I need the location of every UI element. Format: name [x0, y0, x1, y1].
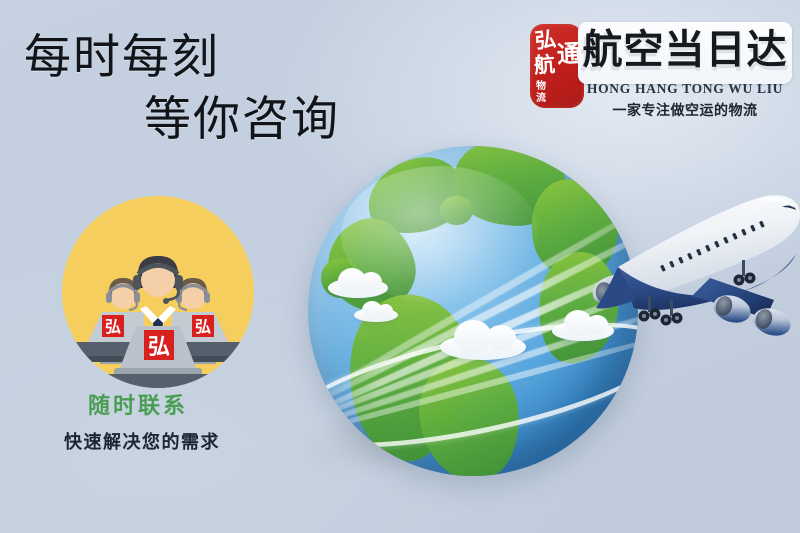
brand-pinyin: HONG HANG TONG WU LIU [578, 81, 792, 97]
globe-landmass [440, 196, 473, 226]
svg-text:弘: 弘 [195, 318, 211, 336]
brand-tagline: 一家专注做空运的物流 [578, 100, 792, 120]
caption-primary: 随时联系 [88, 388, 188, 420]
brand-seal-stamp: 弘 航 通 物流 [530, 24, 584, 108]
seal-char-hang: 航 [533, 54, 555, 76]
svg-text:弘: 弘 [148, 334, 170, 359]
support-agents-graphic: 弘 弘 [62, 196, 254, 388]
cloud-icon [328, 278, 388, 298]
airplane-illustration [560, 150, 800, 365]
cloud-icon [354, 308, 398, 322]
caption-secondary: 快速解决您的需求 [64, 428, 220, 454]
brand-name: 航空当日达 [578, 20, 792, 80]
headline-line-2: 等你咨询 [24, 88, 444, 150]
seal-char-hong: 弘 [534, 29, 557, 52]
support-desk-front [98, 374, 218, 388]
seal-subtext-wuliu: 物流 [536, 81, 554, 104]
headline-block: 每时每刻 等你咨询 [24, 26, 444, 150]
svg-text:弘: 弘 [105, 318, 121, 336]
airplane-icon [560, 150, 800, 365]
headline-line-1: 每时每刻 [24, 26, 444, 88]
cloud-icon [440, 334, 526, 360]
brand-logo-lockup[interactable]: 弘 航 通 物流 航空当日达 航空当日达 HONG HANG TONG WU L… [522, 18, 794, 118]
promotional-poster: 每时每刻 等你咨询 弘 航 通 物流 航空当日达 航空当日达 HONG HANG… [0, 0, 800, 533]
customer-support-illustration: 弘 弘 [62, 196, 254, 388]
